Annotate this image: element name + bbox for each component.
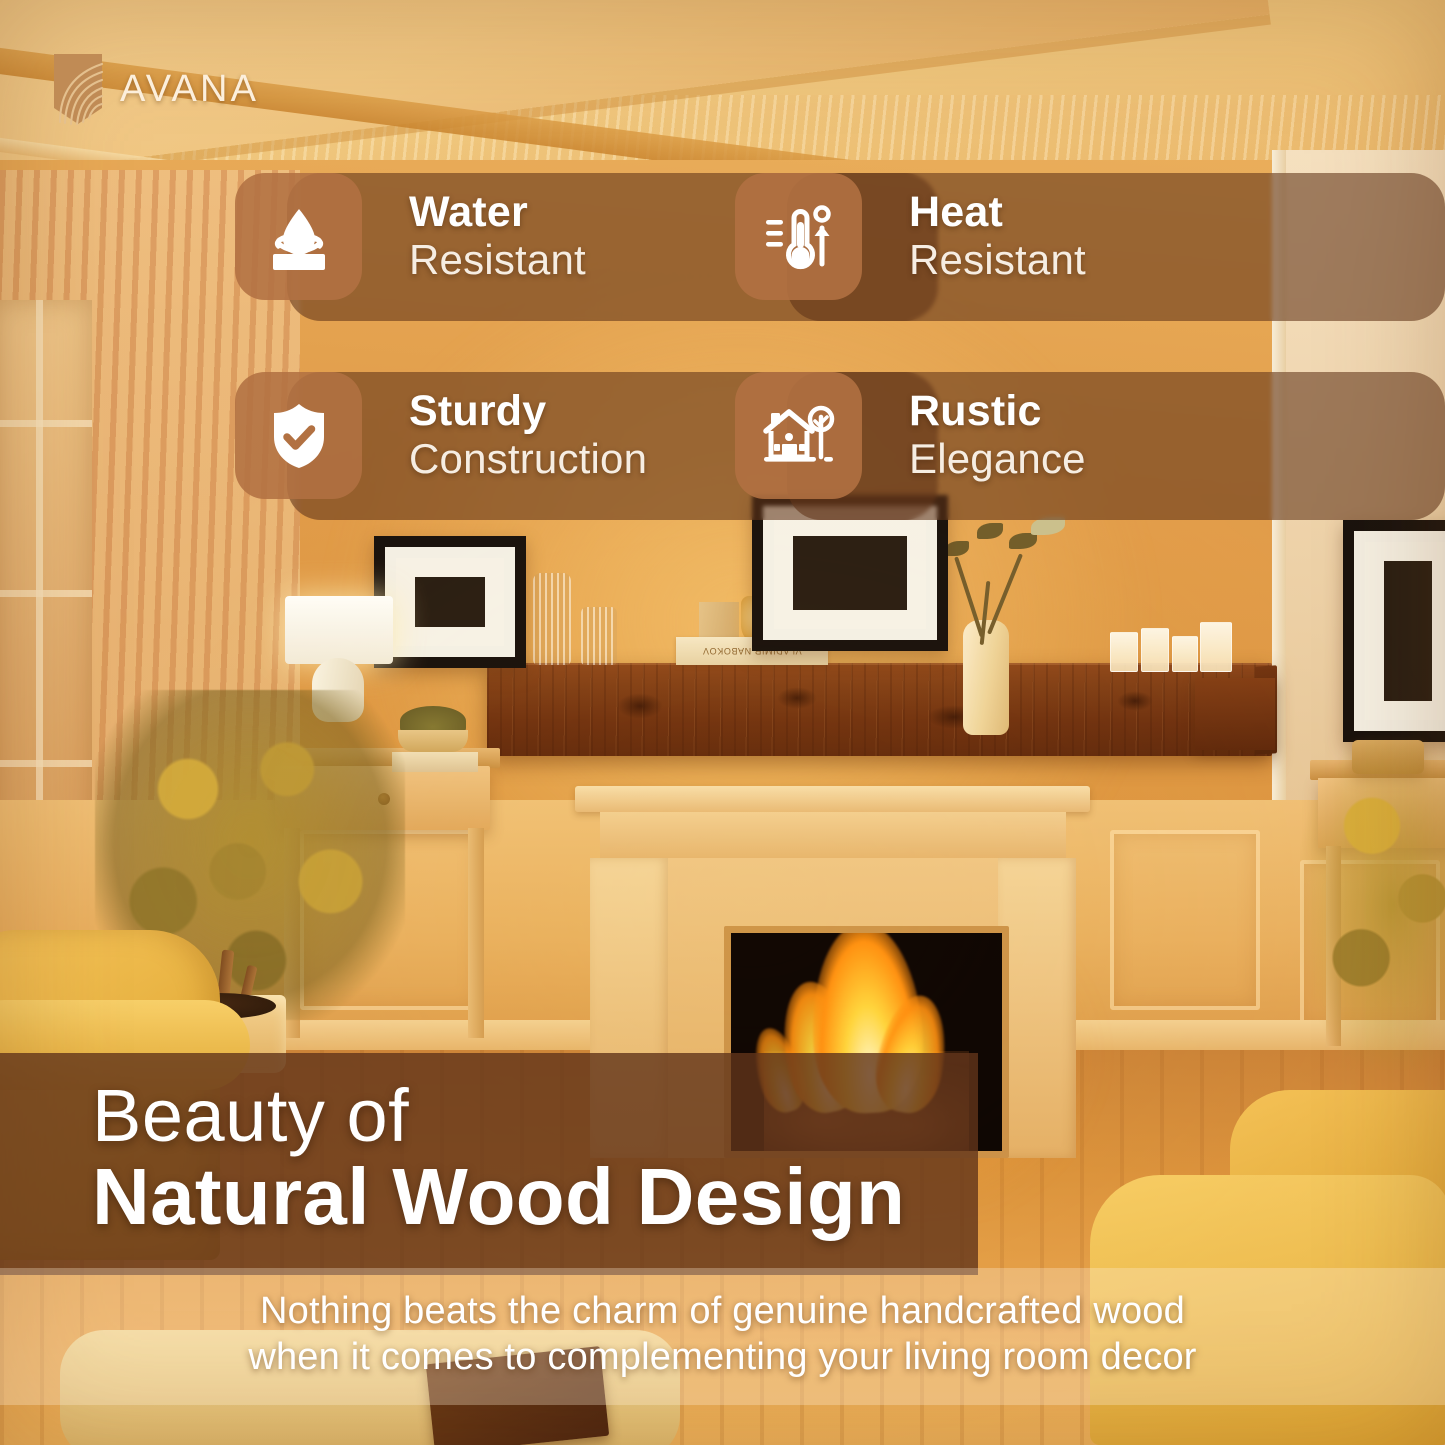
badge-title: Water <box>409 191 586 235</box>
badge-title: Sturdy <box>409 390 647 434</box>
alcove-wood-shelf <box>1195 678 1275 750</box>
potted-tree-canopy-right <box>1300 740 1445 1070</box>
console-leg <box>468 828 484 1038</box>
wood-knot <box>1117 691 1153 711</box>
window-muntin <box>0 590 92 597</box>
promo-image: VLADIMIR NABOKOV <box>0 0 1445 1445</box>
decor-candle <box>1141 628 1169 672</box>
fireplace-mantel-cap <box>575 786 1090 812</box>
badge-panel <box>787 173 1445 321</box>
headline-line-1: Beauty of <box>92 1078 992 1153</box>
wood-knot <box>777 687 817 709</box>
fireplace-pilaster-right <box>998 858 1076 1158</box>
badge-text-block: Sturdy Construction <box>409 390 647 481</box>
badge-title: Heat <box>909 191 1086 235</box>
wall-panel <box>1110 830 1260 1010</box>
headline: Beauty of Natural Wood Design <box>92 1078 992 1239</box>
subtitle: Nothing beats the charm of genuine handc… <box>0 1288 1445 1381</box>
badge-subtitle: Construction <box>409 438 647 481</box>
branch-stem <box>987 553 1023 634</box>
wood-knot <box>617 693 663 719</box>
headline-line-2: Natural Wood Design <box>92 1155 992 1239</box>
decor-vase-tall <box>533 573 571 665</box>
shield-check-icon <box>235 372 362 499</box>
subtitle-line-2: when it comes to complementing your livi… <box>0 1334 1445 1380</box>
badge-text-block: Heat Resistant <box>909 191 1086 282</box>
branch-stem <box>954 556 984 637</box>
badge-subtitle: Elegance <box>909 438 1086 481</box>
decor-candle <box>1200 622 1232 672</box>
badge-text-block: Water Resistant <box>409 191 586 282</box>
art-image <box>415 577 485 627</box>
art-image <box>1384 561 1432 701</box>
feature-badge-group: Water Resistant <box>0 0 1445 560</box>
table-lamp-shade <box>285 596 393 664</box>
badge-panel <box>787 372 1445 520</box>
badge-title: Rustic <box>909 390 1086 434</box>
feature-badge-heat-resistant[interactable]: Heat Resistant <box>735 173 1086 300</box>
badge-subtitle: Resistant <box>909 239 1086 282</box>
house-tree-icon <box>735 372 862 499</box>
decor-candle <box>1110 632 1138 672</box>
feature-badge-water-resistant[interactable]: Water Resistant <box>235 173 586 300</box>
rustic-wood-mantel-beam <box>487 663 1272 756</box>
decor-vase-small <box>581 607 617 665</box>
water-drop-repel-icon <box>235 173 362 300</box>
subtitle-line-1: Nothing beats the charm of genuine handc… <box>0 1288 1445 1334</box>
thermometer-heat-icon <box>735 173 862 300</box>
feature-badge-sturdy-construction[interactable]: Sturdy Construction <box>235 372 647 499</box>
badge-subtitle: Resistant <box>409 239 586 282</box>
succulent-pot <box>398 730 468 752</box>
feature-badge-rustic-elegance[interactable]: Rustic Elegance <box>735 372 1086 499</box>
badge-text-block: Rustic Elegance <box>909 390 1086 481</box>
fireplace-header <box>600 812 1066 862</box>
window-muntin <box>0 760 92 767</box>
decor-candle <box>1172 636 1198 672</box>
